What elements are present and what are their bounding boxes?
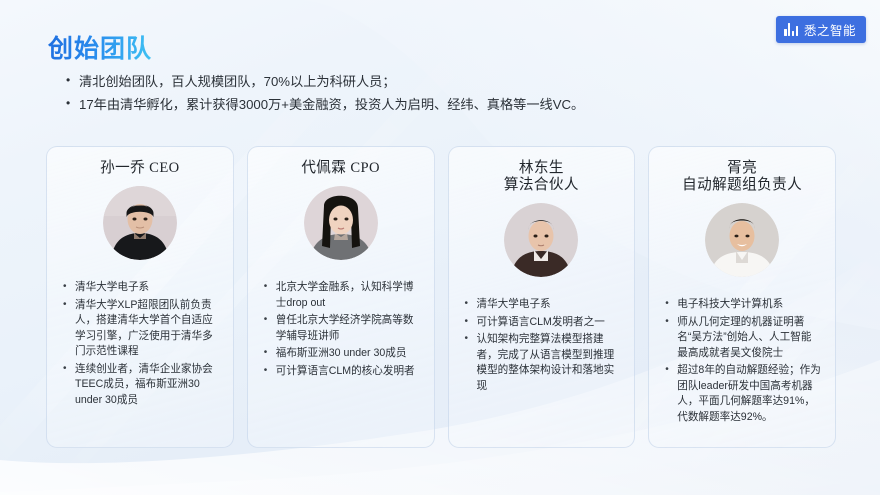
founder-bullet: 曾任北京大学经济学院高等数学辅导班讲师 (263, 313, 421, 344)
founder-bullet: 电子科技大学计算机系 (664, 297, 822, 313)
founder-bullet: 认知架构完整算法模型搭建者，完成了从语言模型到推理模型的整体架构设计和落地实现 (464, 332, 622, 394)
founder-card: 代佩霖 CPO (247, 146, 435, 448)
founder-bullet: 清华大学电子系 (464, 297, 622, 313)
founder-bullet: 超过8年的自动解题经验；作为团队leader研发中国高考机器人，平面几何解题率达… (664, 363, 822, 425)
founder-bullet: 福布斯亚洲30 under 30成员 (263, 346, 421, 362)
founder-name: 代佩霖 CPO (301, 160, 380, 177)
avatar (103, 186, 177, 260)
intro-bullet-item: 清北创始团队，百人规模团队，70%以上为科研人员； (66, 70, 766, 93)
founder-card: 林东生 算法合伙人 (448, 146, 636, 448)
brand-logo: 悉之智能 (776, 16, 866, 43)
founder-bullets: 清华大学电子系 可计算语言CLM发明者之一 认知架构完整算法模型搭建者，完成了从… (460, 297, 624, 396)
slide-root: 悉之智能 创始团队 清北创始团队，百人规模团队，70%以上为科研人员； 17年由… (0, 0, 880, 495)
founder-bullets: 清华大学电子系 清华大学XLP超限团队前负责人，搭建清华大学首个自适应学习引擎，… (58, 280, 222, 410)
founder-bullets: 北京大学金融系，认知科学博士drop out 曾任北京大学经济学院高等数学辅导班… (259, 280, 423, 381)
founder-name: 林东生 (519, 160, 564, 177)
equalizer-bars-icon (784, 23, 798, 36)
founder-card: 孙一乔 CEO (46, 146, 234, 448)
founder-bullet: 可计算语言CLM的核心发明者 (263, 364, 421, 380)
intro-bullet-item: 17年由清华孵化，累计获得3000万+美金融资，投资人为启明、经纬、真格等一线V… (66, 93, 766, 116)
founder-name: 胥亮 (727, 160, 757, 177)
founder-name: 孙一乔 CEO (100, 160, 179, 177)
avatar (304, 186, 378, 260)
intro-bullet-list: 清北创始团队，百人规模团队，70%以上为科研人员； 17年由清华孵化，累计获得3… (66, 70, 766, 116)
avatar (504, 203, 578, 277)
founder-bullet: 可计算语言CLM发明者之一 (464, 315, 622, 331)
founder-bullet: 连续创业者，清华企业家协会TEEC成员，福布斯亚洲30 under 30成员 (62, 362, 220, 409)
page-title: 创始团队 (48, 29, 152, 65)
founder-bullets: 电子科技大学计算机系 师从几何定理的机器证明著名“吴方法”创始人、人工智能最高成… (660, 297, 824, 427)
brand-logo-text: 悉之智能 (804, 20, 856, 39)
avatar (705, 203, 779, 277)
founder-bullet: 清华大学电子系 (62, 280, 220, 296)
founder-role: 算法合伙人 (504, 177, 579, 194)
founder-bullet: 北京大学金融系，认知科学博士drop out (263, 280, 421, 311)
founder-card: 胥亮 自动解题组负责人 (648, 146, 836, 448)
founder-bullet: 师从几何定理的机器证明著名“吴方法”创始人、人工智能最高成就者吴文俊院士 (664, 315, 822, 362)
founder-bullet: 清华大学XLP超限团队前负责人，搭建清华大学首个自适应学习引擎，广泛使用于清华多… (62, 298, 220, 360)
founder-role: 自动解题组负责人 (682, 177, 802, 194)
founder-cards-row: 孙一乔 CEO (46, 146, 836, 448)
